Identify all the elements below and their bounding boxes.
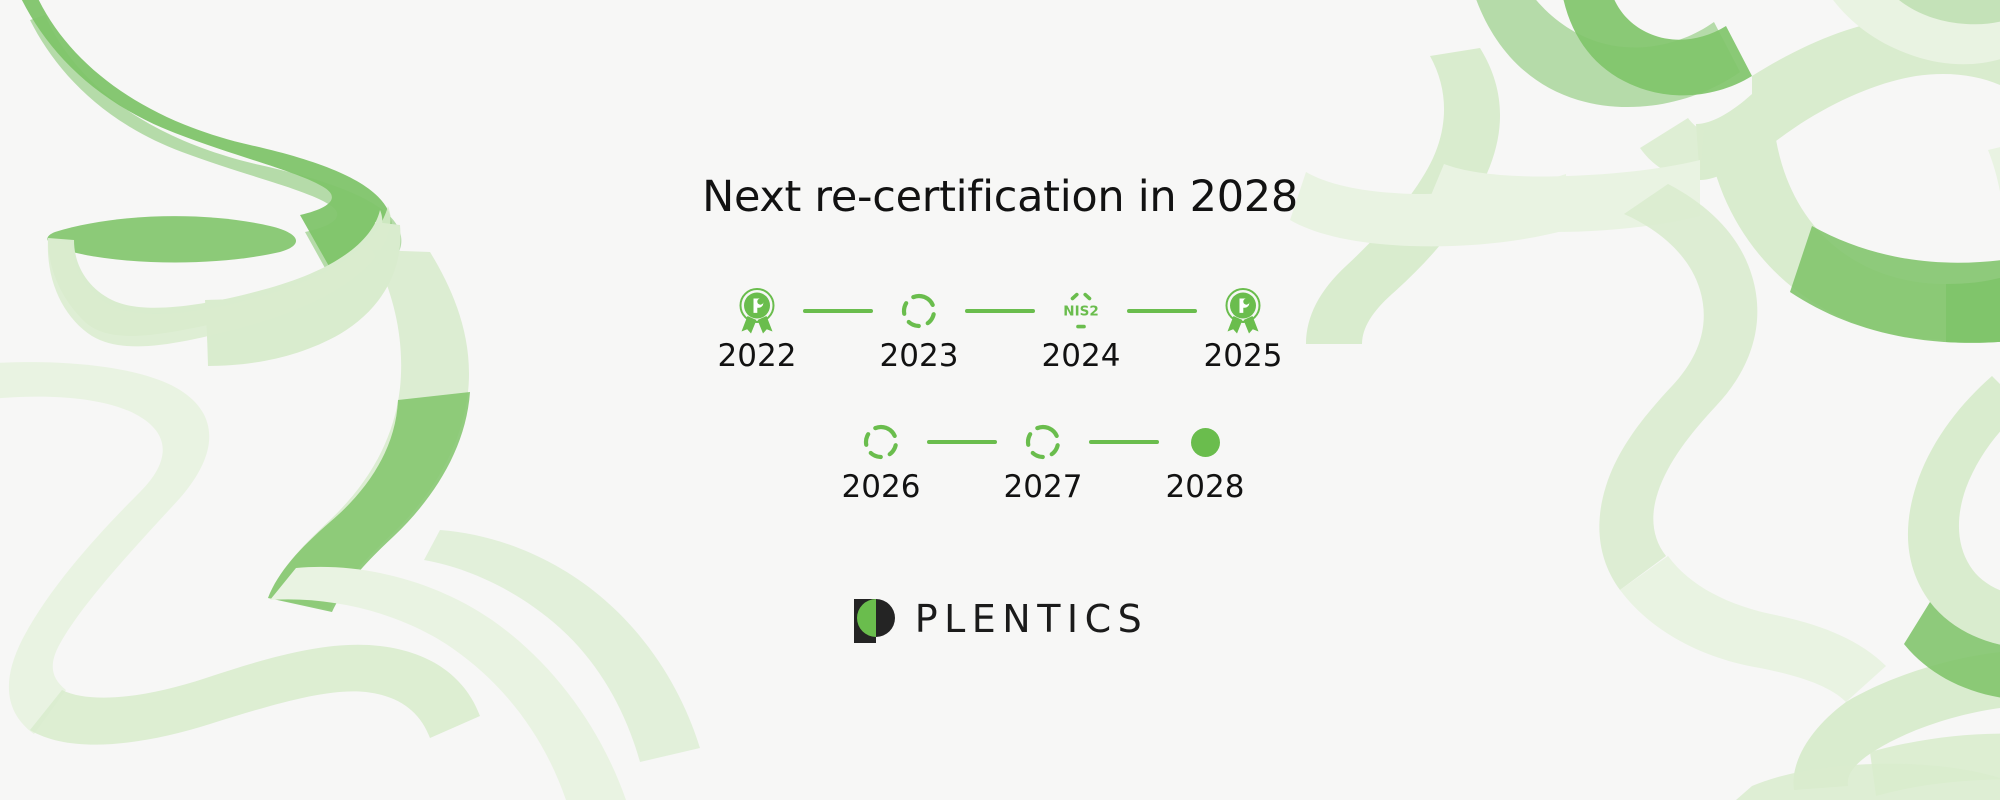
timeline-year-label: 2023 bbox=[880, 341, 959, 372]
timeline-node-2028[interactable]: 2028 bbox=[1159, 418, 1251, 503]
timeline-year-label: 2024 bbox=[1042, 341, 1121, 372]
pending-circle-icon bbox=[1019, 418, 1067, 466]
timeline-node-2024[interactable]: NIS2 2024 bbox=[1035, 287, 1127, 372]
banner-content: Next re-certification in 2028 bbox=[0, 0, 2000, 800]
timeline-connector bbox=[965, 287, 1035, 335]
pending-circle-icon bbox=[857, 418, 905, 466]
nis2-text: NIS2 bbox=[1063, 304, 1098, 320]
certification-timeline: 2022 2023 bbox=[711, 287, 1289, 503]
timeline-connector bbox=[927, 418, 997, 466]
plentics-p-mark-icon bbox=[852, 595, 896, 643]
target-dot-icon bbox=[1181, 418, 1229, 466]
nis2-badge-icon: NIS2 bbox=[1057, 287, 1105, 335]
certification-badge-icon bbox=[1219, 287, 1267, 335]
timeline-year-label: 2022 bbox=[718, 341, 797, 372]
timeline-node-2022[interactable]: 2022 bbox=[711, 287, 803, 372]
timeline-connector bbox=[803, 287, 873, 335]
timeline-node-2026[interactable]: 2026 bbox=[835, 418, 927, 503]
timeline-year-label: 2026 bbox=[842, 472, 921, 503]
timeline-node-2027[interactable]: 2027 bbox=[997, 418, 1089, 503]
timeline-year-label: 2028 bbox=[1166, 472, 1245, 503]
timeline-node-2025[interactable]: 2025 bbox=[1197, 287, 1289, 372]
certification-badge-icon bbox=[733, 287, 781, 335]
timeline-year-label: 2025 bbox=[1204, 341, 1283, 372]
plentics-wordmark: PLENTICS bbox=[915, 597, 1149, 641]
timeline-year-label: 2027 bbox=[1004, 472, 1083, 503]
timeline-row-2: 2026 2027 bbox=[749, 418, 1251, 503]
timeline-node-2023[interactable]: 2023 bbox=[873, 287, 965, 372]
certification-timeline-banner: Next re-certification in 2028 bbox=[0, 0, 2000, 800]
timeline-connector bbox=[1089, 418, 1159, 466]
page-title: Next re-certification in 2028 bbox=[702, 176, 1298, 219]
timeline-connector bbox=[1127, 287, 1197, 335]
pending-circle-icon bbox=[895, 287, 943, 335]
timeline-row-1: 2022 2023 bbox=[711, 287, 1289, 372]
plentics-logo[interactable]: PLENTICS bbox=[852, 595, 1149, 643]
